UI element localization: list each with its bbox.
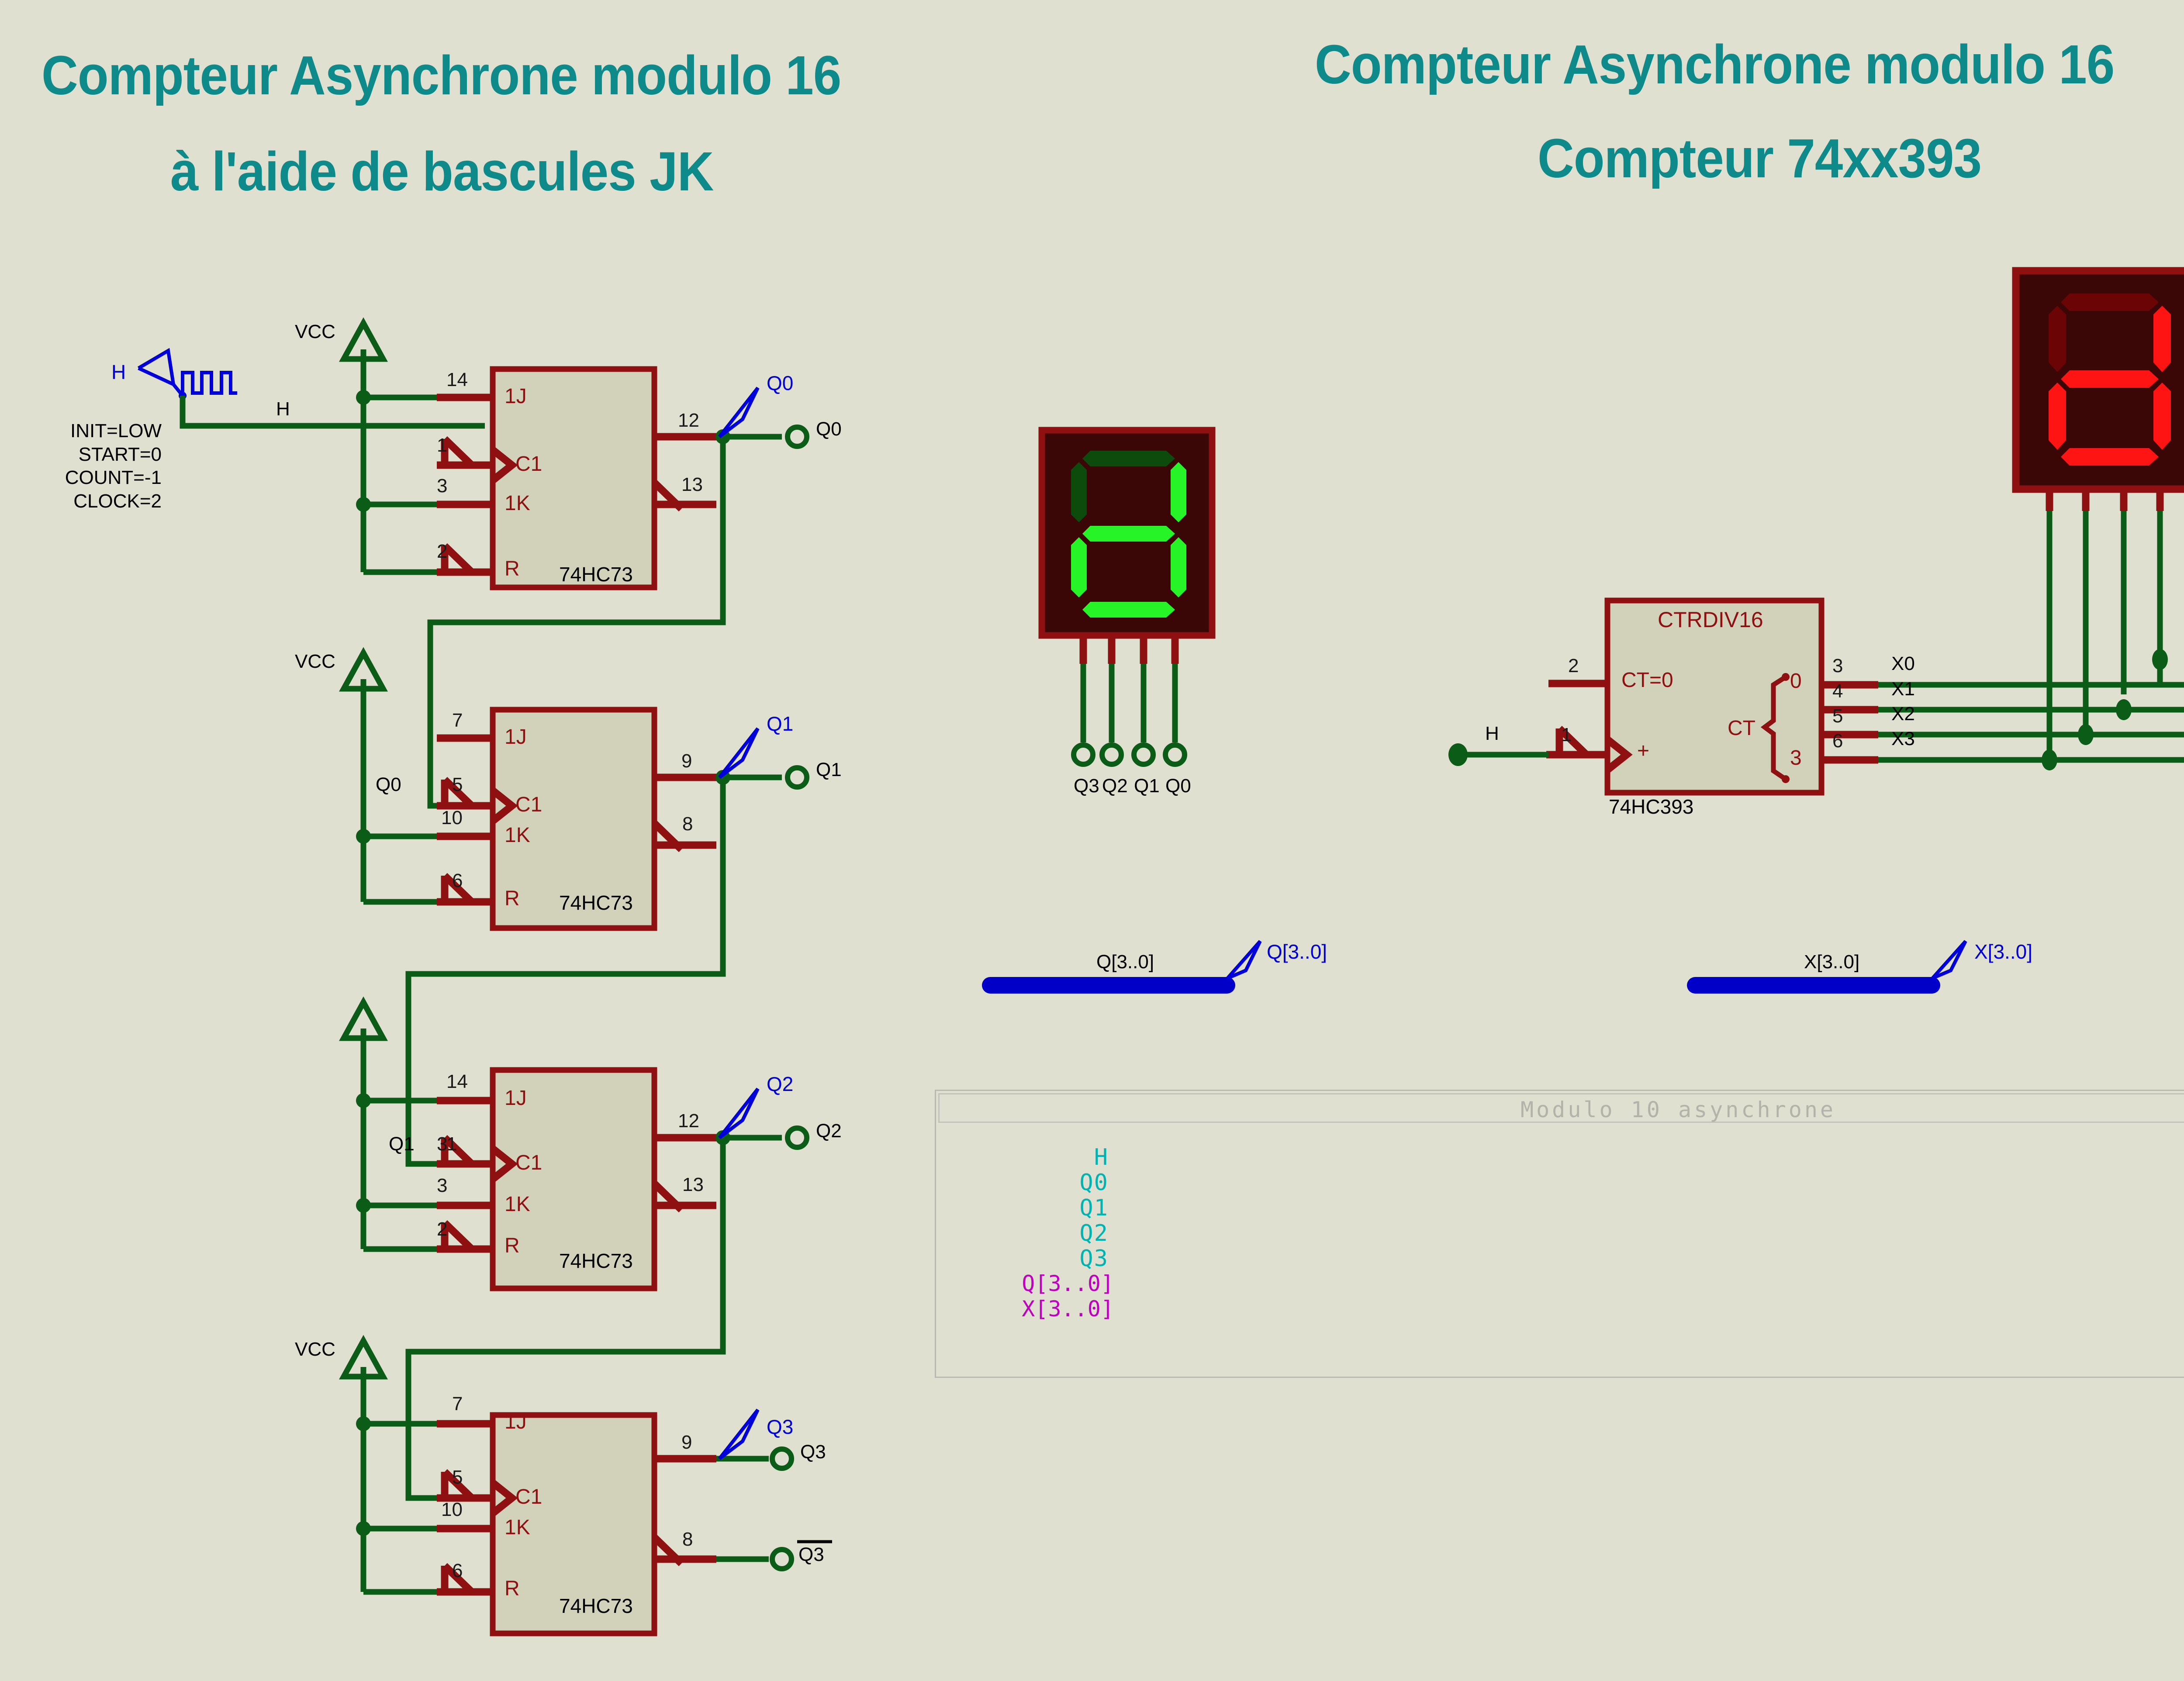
counter-out-pin-0: 3 — [1832, 655, 1843, 677]
bus-q30-net-label: Q[3..0] — [1096, 951, 1154, 973]
clock-parameter: START=0 — [17, 443, 162, 466]
ff1-input-j: 1J — [505, 384, 527, 408]
clock-parameter: COUNT=-1 — [17, 466, 162, 490]
ff3-ref: 74HC73 — [559, 1249, 633, 1273]
waveform-signal-q0: Q0 — [951, 1170, 1109, 1196]
clock-parameter: CLOCK=2 — [17, 490, 162, 513]
clock-net-label: H — [276, 398, 290, 420]
ff2-port-q1: Q1 — [767, 712, 793, 735]
ff3-pin-clk: 1 — [446, 1133, 457, 1155]
counter-out-pin-2: 5 — [1832, 705, 1843, 727]
ff2-pin-q: 9 — [681, 750, 692, 772]
ff2-input-k: 1K — [505, 823, 530, 847]
counter-out-name-x1: X1 — [1891, 678, 1915, 700]
ff3-input-j: 1J — [505, 1086, 527, 1110]
waveform-title: Modulo 10 asynchrone — [938, 1097, 2184, 1122]
counter-out-pin-1: 4 — [1832, 680, 1843, 702]
ff4-input-j: 1J — [505, 1410, 527, 1434]
waveform-signal-h: H — [951, 1144, 1109, 1170]
ff3-pin-k2: 3 — [437, 1175, 447, 1197]
ff4-pin-k: 10 — [441, 1499, 463, 1521]
ff4-input-clk: C1 — [515, 1485, 542, 1509]
seg-green-pin-q0: Q0 — [1165, 775, 1191, 797]
ff3-pin-qn: 13 — [682, 1174, 704, 1196]
counter-out-name-x0: X0 — [1891, 653, 1915, 675]
ff3-pin-q: 12 — [678, 1110, 699, 1132]
counter-clear-pin: 2 — [1568, 655, 1579, 677]
clock-parameters: INIT=LOWSTART=0COUNT=-1CLOCK=2 — [17, 419, 162, 513]
ff4-pin-j: 7 — [452, 1393, 463, 1415]
ff2-pin-qn: 8 — [682, 813, 693, 835]
ff3-clk-net: Q1 — [389, 1133, 415, 1155]
counter-clock-net: H — [1485, 723, 1499, 745]
ff2-pin-r: 6 — [452, 870, 463, 892]
bus-q30-port-label: Q[3..0] — [1267, 940, 1327, 963]
seg-green-pin-q2: Q2 — [1102, 775, 1128, 797]
ff1-pin-q: 12 — [678, 410, 699, 431]
counter-ct-label: CT — [1728, 716, 1755, 740]
clock-port-label: H — [111, 360, 126, 384]
ff4-pin-r: 6 — [452, 1560, 463, 1582]
seg-green-pin-q1: Q1 — [1134, 775, 1160, 797]
counter-title: CTRDIV16 — [1658, 607, 1763, 632]
ff2-ref: 74HC73 — [559, 891, 633, 915]
ff1-pin-j: 14 — [446, 369, 468, 391]
ff4-out-label: Q3 — [800, 1441, 826, 1463]
ff2-pin-clk: 5 — [452, 774, 463, 796]
ff2-input-r: R — [505, 887, 520, 911]
ff1-ref: 74HC73 — [559, 563, 633, 586]
ff4-ref: 74HC73 — [559, 1594, 633, 1618]
vcc-label-3: VCC — [295, 1339, 335, 1360]
seven-segment-green-display — [1042, 430, 1212, 764]
ff4-pin-qn: 8 — [682, 1529, 693, 1550]
ff4-input-r: R — [505, 1577, 520, 1601]
ff1-pin-r: 2 — [437, 541, 447, 563]
ff4-input-k: 1K — [505, 1515, 530, 1539]
ff3-out-label: Q2 — [816, 1120, 842, 1142]
counter-ref: 74HC393 — [1609, 795, 1693, 818]
bus-x30-port-label: X[3..0] — [1974, 940, 2032, 963]
ff3-input-clk: C1 — [515, 1151, 542, 1175]
vcc-label-2: VCC — [295, 651, 335, 673]
clock-source-symbol — [138, 351, 485, 426]
schematic-canvas: Compteur Asynchrone modulo 16 à l'aide d… — [0, 0, 2184, 1681]
ff2-pin-k: 10 — [441, 807, 463, 829]
seg-green-pin-q3: Q3 — [1074, 775, 1099, 797]
ff1-pin-k: 3 — [437, 475, 447, 497]
ff4-port-q3: Q3 — [767, 1415, 793, 1439]
ff1-input-r: R — [505, 557, 520, 581]
ff3-pin-r: 2 — [437, 1218, 447, 1240]
counter-out-pin-3: 6 — [1832, 730, 1843, 752]
bus-x30-net-label: X[3..0] — [1804, 951, 1859, 973]
ff2-input-j: 1J — [505, 725, 527, 749]
ff1-port-q0: Q0 — [767, 371, 793, 395]
counter-out-name-x3: X3 — [1891, 728, 1915, 750]
ff3-input-k: 1K — [505, 1192, 530, 1216]
schematic-artwork: .w { stroke:#0b5c16; stroke-width:13; fi… — [0, 0, 2184, 1681]
waveform-bus-x30: X[3..0] — [913, 1296, 1114, 1322]
ff1-input-clk: C1 — [515, 452, 542, 476]
ff4-outn-label: Q3 — [798, 1544, 824, 1566]
vcc-label-1: VCC — [295, 321, 335, 343]
clock-parameter: INIT=LOW — [17, 419, 162, 443]
seven-segment-red-display — [2016, 271, 2184, 766]
ff1-input-k: 1K — [505, 491, 530, 515]
counter-bracket-top: 0 — [1790, 669, 1802, 693]
ff4-pin-clk: 5 — [452, 1467, 463, 1488]
waveform-signal-q1: Q1 — [951, 1195, 1109, 1221]
waveform-panel — [935, 1090, 2184, 1378]
ff3-pin-k: 3 — [437, 1133, 447, 1155]
waveform-signal-q3: Q3 — [951, 1246, 1109, 1272]
ff1-pin-qn: 13 — [681, 474, 703, 496]
ff4-pin-q: 9 — [681, 1432, 692, 1453]
ff2-clk-net: Q0 — [376, 774, 401, 796]
ff1-pin-clk: 1 — [437, 435, 447, 456]
counter-clear-label: CT=0 — [1621, 668, 1673, 692]
vcc-symbols — [344, 323, 485, 1592]
ff2-out-label: Q1 — [816, 759, 842, 781]
waveform-signal-q2: Q2 — [951, 1220, 1109, 1246]
counter-74hc393-symbol — [1448, 601, 2184, 793]
ff1-out-label: Q0 — [816, 418, 842, 440]
ff3-port-q2: Q2 — [767, 1072, 793, 1096]
counter-clock-pin: 1 — [1561, 724, 1572, 746]
ff2-input-clk: C1 — [515, 793, 542, 817]
counter-bracket-bottom: 3 — [1790, 746, 1802, 770]
ff3-input-r: R — [505, 1234, 520, 1258]
waveform-bus-q30: Q[3..0] — [913, 1271, 1114, 1296]
counter-clock-label: + — [1637, 739, 1649, 763]
ff3-pin-j: 14 — [446, 1071, 468, 1093]
ff2-pin-j: 7 — [452, 710, 463, 732]
counter-out-name-x2: X2 — [1891, 703, 1915, 725]
